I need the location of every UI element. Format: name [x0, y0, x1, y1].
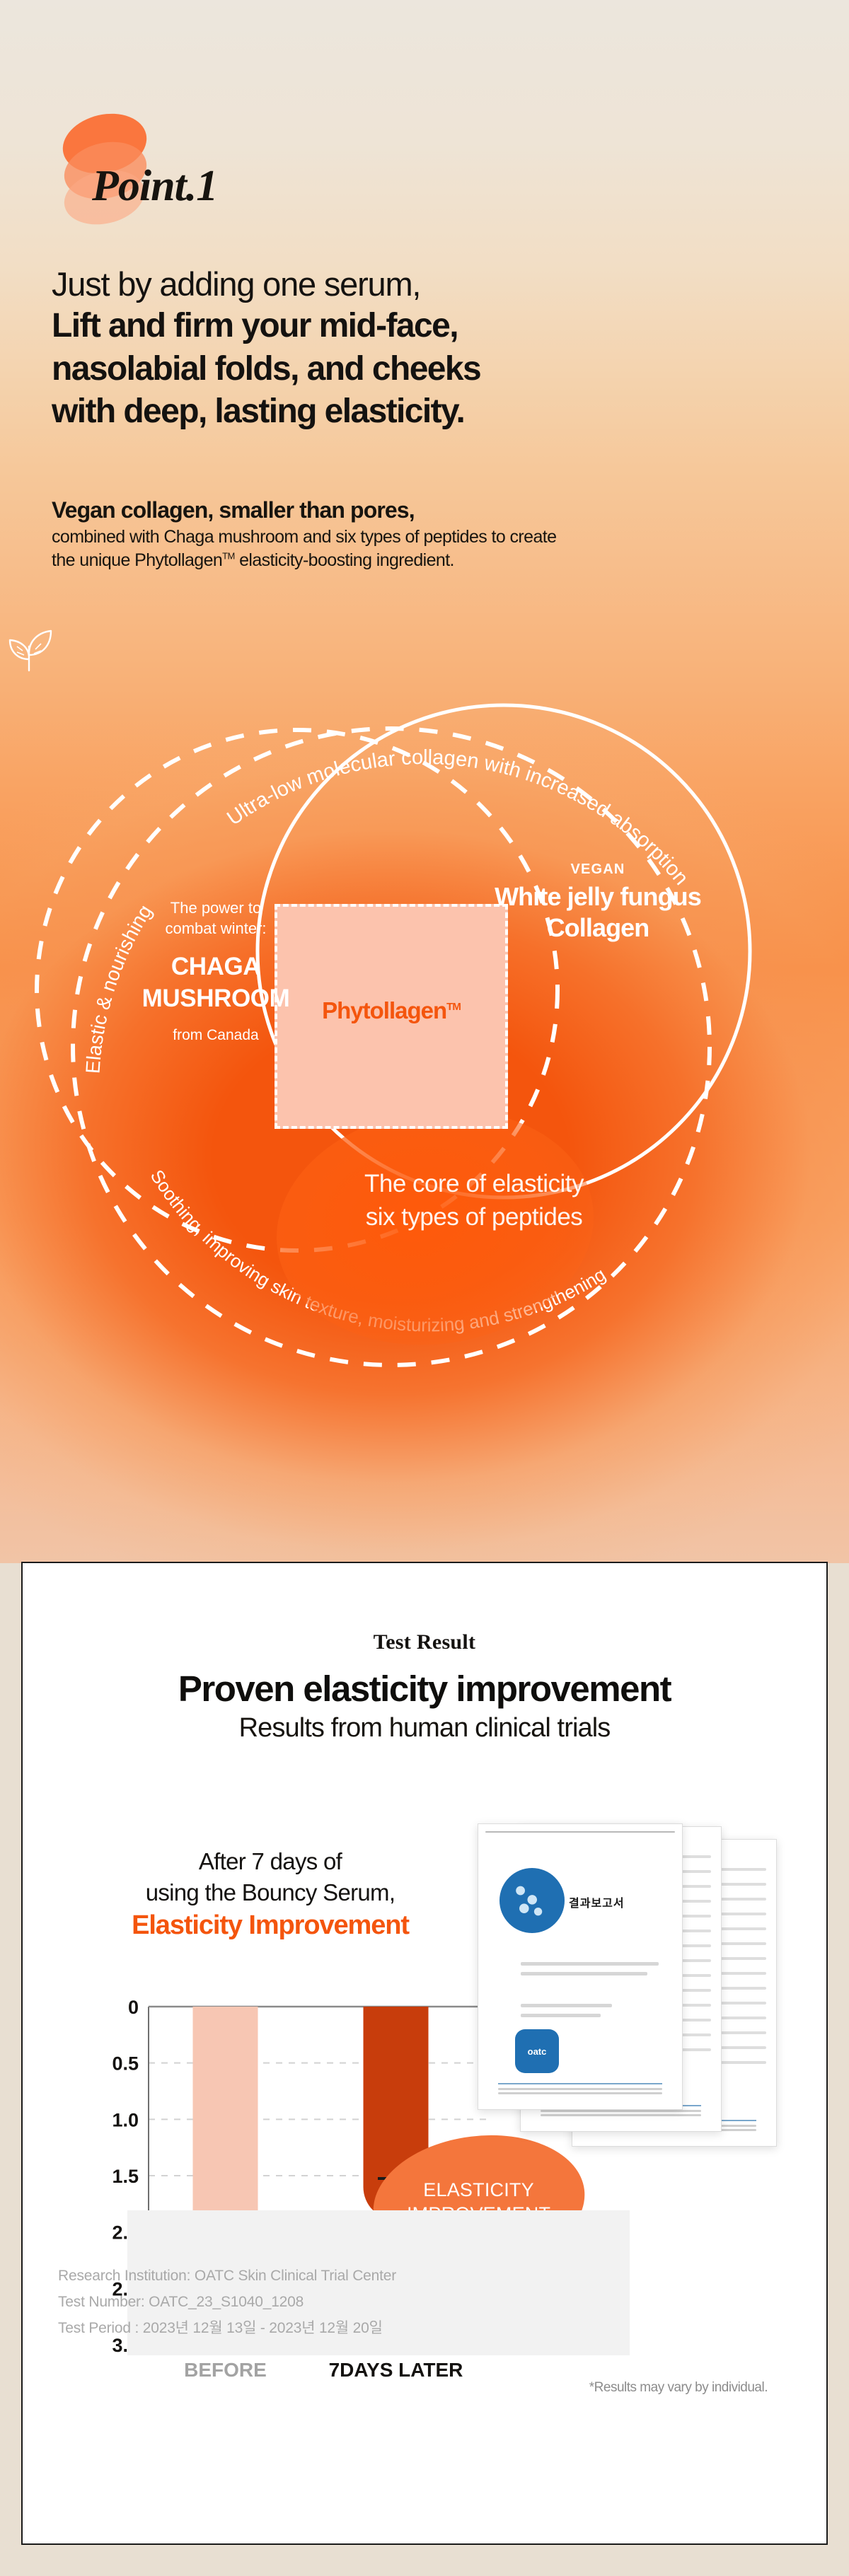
collagen-title-line-2: Collagen — [453, 912, 743, 944]
hero-headline: Just by adding one serum, Lift and firm … — [52, 263, 480, 434]
chaga-title-line-1: CHAGA — [76, 951, 355, 983]
hero-section: Point.1 Just by adding one serum, Lift a… — [0, 0, 849, 1563]
hero-subtitle: Vegan collagen, smaller than pores, comb… — [52, 495, 556, 573]
trial-info-period: Test Period : 2023년 12월 13일 - 2023년 12월 … — [58, 2316, 396, 2342]
headline-line-1: Lift and firm your mid-face, — [52, 305, 480, 347]
collagen-title: White jelly fungus Collagen — [453, 881, 743, 944]
subtitle-line-3-post: elasticity-boosting ingredient. — [235, 550, 454, 570]
chart-intro-line-1: After 7 days of — [65, 1846, 475, 1877]
leaf-icon — [0, 622, 55, 673]
report-doc-header — [485, 1831, 675, 1835]
venn-diagram: Ultra-low molecular collagen with increa… — [0, 622, 849, 1471]
report-document-stack: 결과보고서 oatc — [453, 1804, 821, 2200]
chaga-origin: from Canada — [99, 1027, 333, 1044]
vegan-badge-label: VEGAN — [538, 861, 658, 878]
point-label: Point.1 — [92, 161, 217, 211]
subtitle-line-3: the unique PhytollagenTM elasticity-boos… — [52, 549, 556, 573]
peptides-caption-line-1: The core of elasticity — [269, 1167, 679, 1200]
headline-line-light: Just by adding one serum, — [52, 263, 480, 305]
chaga-caption-line-2: combat winter: — [99, 919, 333, 939]
category-labels: BEFORE7DAYS LATER — [184, 2359, 463, 2381]
chaga-caption-line-1: The power to — [99, 898, 333, 919]
category-label: 7DAYS LATER — [329, 2359, 463, 2381]
report-document-front[interactable]: 결과보고서 oatc — [478, 1823, 683, 2110]
headline-line-2: nasolabial folds, and cheeks — [52, 348, 480, 390]
y-tick-label: 1.5 — [112, 2166, 139, 2187]
globe-icon — [499, 1868, 565, 1933]
collagen-title-line-1: White jelly fungus — [453, 881, 743, 912]
subtitle-line-3-pre: the unique Phytollagen — [52, 550, 222, 570]
trial-info-institution: Research Institution: OATC Skin Clinical… — [58, 2263, 396, 2290]
test-result-kicker: Test Result — [23, 1630, 826, 1654]
report-doc-front-footer — [498, 2083, 662, 2096]
trademark-icon: TM — [222, 551, 235, 562]
y-tick-label: 1.0 — [112, 2109, 139, 2130]
headline-line-3: with deep, lasting elasticity. — [52, 390, 480, 433]
peptides-caption-line-2: six types of peptides — [269, 1200, 679, 1234]
phytollagen-tm-icon: TM — [446, 1001, 461, 1013]
chaga-caption: The power to combat winter: — [99, 898, 333, 939]
disclaimer-text: *Results may vary by individual. — [589, 2380, 768, 2396]
chart-intro: After 7 days of using the Bouncy Serum, … — [65, 1846, 475, 1941]
trial-info-text: Research Institution: OATC Skin Clinical… — [58, 2263, 396, 2341]
subtitle-line-2: combined with Chaga mushroom and six typ… — [52, 526, 556, 550]
card-subtitle: Results from human clinical trials — [23, 1713, 826, 1744]
chaga-title: CHAGA MUSHROOM — [76, 951, 355, 1015]
chaga-title-line-2: MUSHROOM — [76, 983, 355, 1015]
y-tick-label: 0.5 — [112, 2053, 139, 2075]
point-logo: Point.1 — [55, 113, 296, 233]
peptides-caption: The core of elasticity six types of pept… — [269, 1167, 679, 1234]
trial-info-number: Test Number: OATC_23_S1040_1208 — [58, 2290, 396, 2316]
chart-intro-line-2: using the Bouncy Serum, — [65, 1877, 475, 1908]
chart-intro-highlight: Elasticity Improvement — [65, 1910, 475, 1941]
subtitle-line-1: Vegan collagen, smaller than pores, — [52, 495, 556, 526]
report-doc-body-lines — [521, 1962, 659, 2024]
report-doc-title: 결과보고서 — [569, 1893, 625, 1910]
card-title: Proven elasticity improvement — [23, 1668, 826, 1710]
category-label: BEFORE — [184, 2359, 267, 2381]
oatc-logo-icon: oatc — [515, 2029, 559, 2073]
y-tick-label: 0 — [128, 1997, 139, 2018]
